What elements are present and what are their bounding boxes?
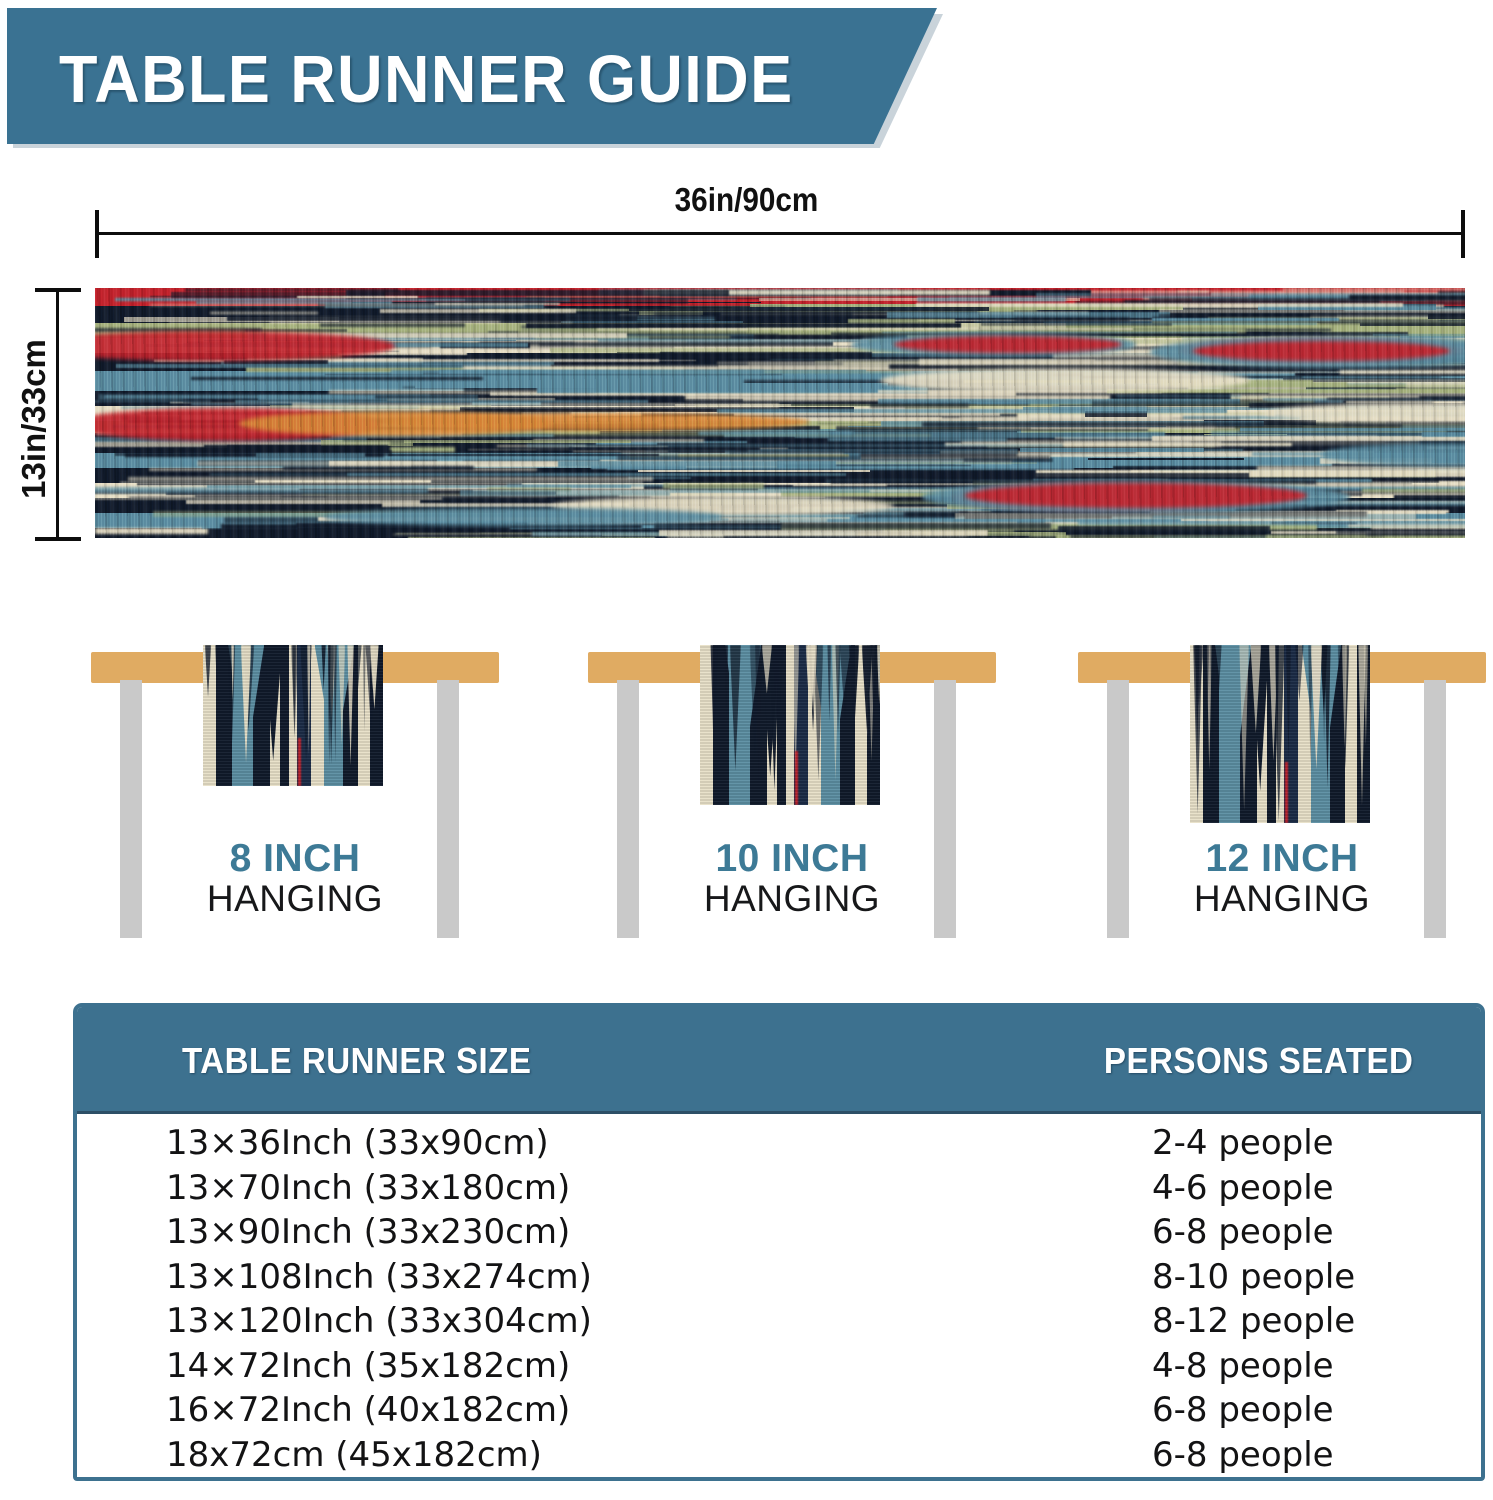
hanging-figure-10inch: 10 INCH HANGING: [582, 630, 1002, 940]
width-dimension-line: [95, 232, 1465, 235]
size-table: TABLE RUNNER SIZE PERSONS SEATED 13×36In…: [73, 1003, 1485, 1481]
table-row: 13×90Inch (33x230cm)6-8 people: [77, 1212, 1481, 1257]
persons-seated-value: 2-4 people: [1152, 1123, 1334, 1163]
draped-runner: [700, 645, 880, 805]
size-table-header: TABLE RUNNER SIZE PERSONS SEATED: [77, 1007, 1481, 1114]
table-row: 18x72cm (45x182cm)6-8 people: [77, 1435, 1481, 1480]
height-dimension-line: [56, 288, 59, 540]
runner-size-value: 14×72Inch (35x182cm): [166, 1346, 570, 1386]
hanging-amount: 12 INCH: [1072, 839, 1492, 880]
hanging-word: HANGING: [85, 880, 505, 919]
fabric-weave: [95, 288, 1465, 538]
table-row: 14×72Inch (35x182cm)4-8 people: [77, 1346, 1481, 1391]
runner-size-value: 13×90Inch (33x230cm): [166, 1212, 570, 1252]
runner-size-value: 13×70Inch (33x180cm): [166, 1168, 570, 1208]
column-header-people: PERSONS SEATED: [1104, 1040, 1413, 1082]
runner-size-value: 13×108Inch (33x274cm): [166, 1257, 592, 1297]
persons-seated-value: 8-10 people: [1152, 1257, 1355, 1297]
table-runner-fabric: [95, 288, 1465, 538]
runner-size-value: 16×72Inch (40x182cm): [166, 1390, 570, 1430]
hanging-figure-8inch: 8 INCH HANGING: [85, 630, 505, 940]
runner-size-value: 13×120Inch (33x304cm): [166, 1301, 592, 1341]
persons-seated-value: 6-8 people: [1152, 1435, 1334, 1475]
column-header-size: TABLE RUNNER SIZE: [182, 1040, 531, 1082]
hanging-caption-10inch: 10 INCH HANGING: [582, 839, 1002, 919]
table-row: 13×108Inch (33x274cm)8-10 people: [77, 1257, 1481, 1302]
width-dimension-cap-left: [95, 210, 99, 258]
persons-seated-value: 6-8 people: [1152, 1212, 1334, 1252]
table-row: 16×72Inch (40x182cm)6-8 people: [77, 1390, 1481, 1435]
hanging-caption-12inch: 12 INCH HANGING: [1072, 839, 1492, 919]
runner-width-label: 36in/90cm: [75, 181, 1419, 219]
hanging-amount: 10 INCH: [582, 839, 1002, 880]
page-title: TABLE RUNNER GUIDE: [59, 41, 793, 118]
persons-seated-value: 4-8 people: [1152, 1346, 1334, 1386]
draped-runner: [1190, 645, 1370, 823]
runner-size-value: 18x72cm (45x182cm): [166, 1435, 542, 1475]
persons-seated-value: 4-6 people: [1152, 1168, 1334, 1208]
size-table-body: 13×36Inch (33x90cm)2-4 people13×70Inch (…: [77, 1114, 1481, 1479]
table-row: 13×70Inch (33x180cm)4-6 people: [77, 1168, 1481, 1213]
runner-height-label: 13in/33cm: [15, 299, 53, 539]
hanging-figure-12inch: 12 INCH HANGING: [1072, 630, 1492, 940]
persons-seated-value: 8-12 people: [1152, 1301, 1355, 1341]
hanging-amount: 8 INCH: [85, 839, 505, 880]
persons-seated-value: 6-8 people: [1152, 1390, 1334, 1430]
height-dimension-cap-top: [35, 288, 81, 292]
runner-size-value: 13×36Inch (33x90cm): [166, 1123, 549, 1163]
hanging-word: HANGING: [1072, 880, 1492, 919]
hanging-caption-8inch: 8 INCH HANGING: [85, 839, 505, 919]
draped-runner: [203, 645, 383, 786]
width-dimension-cap-right: [1461, 210, 1465, 258]
table-row: 13×36Inch (33x90cm)2-4 people: [77, 1123, 1481, 1168]
hanging-word: HANGING: [582, 880, 1002, 919]
header-banner: TABLE RUNNER GUIDE: [7, 8, 947, 148]
table-row: 13×120Inch (33x304cm)8-12 people: [77, 1301, 1481, 1346]
